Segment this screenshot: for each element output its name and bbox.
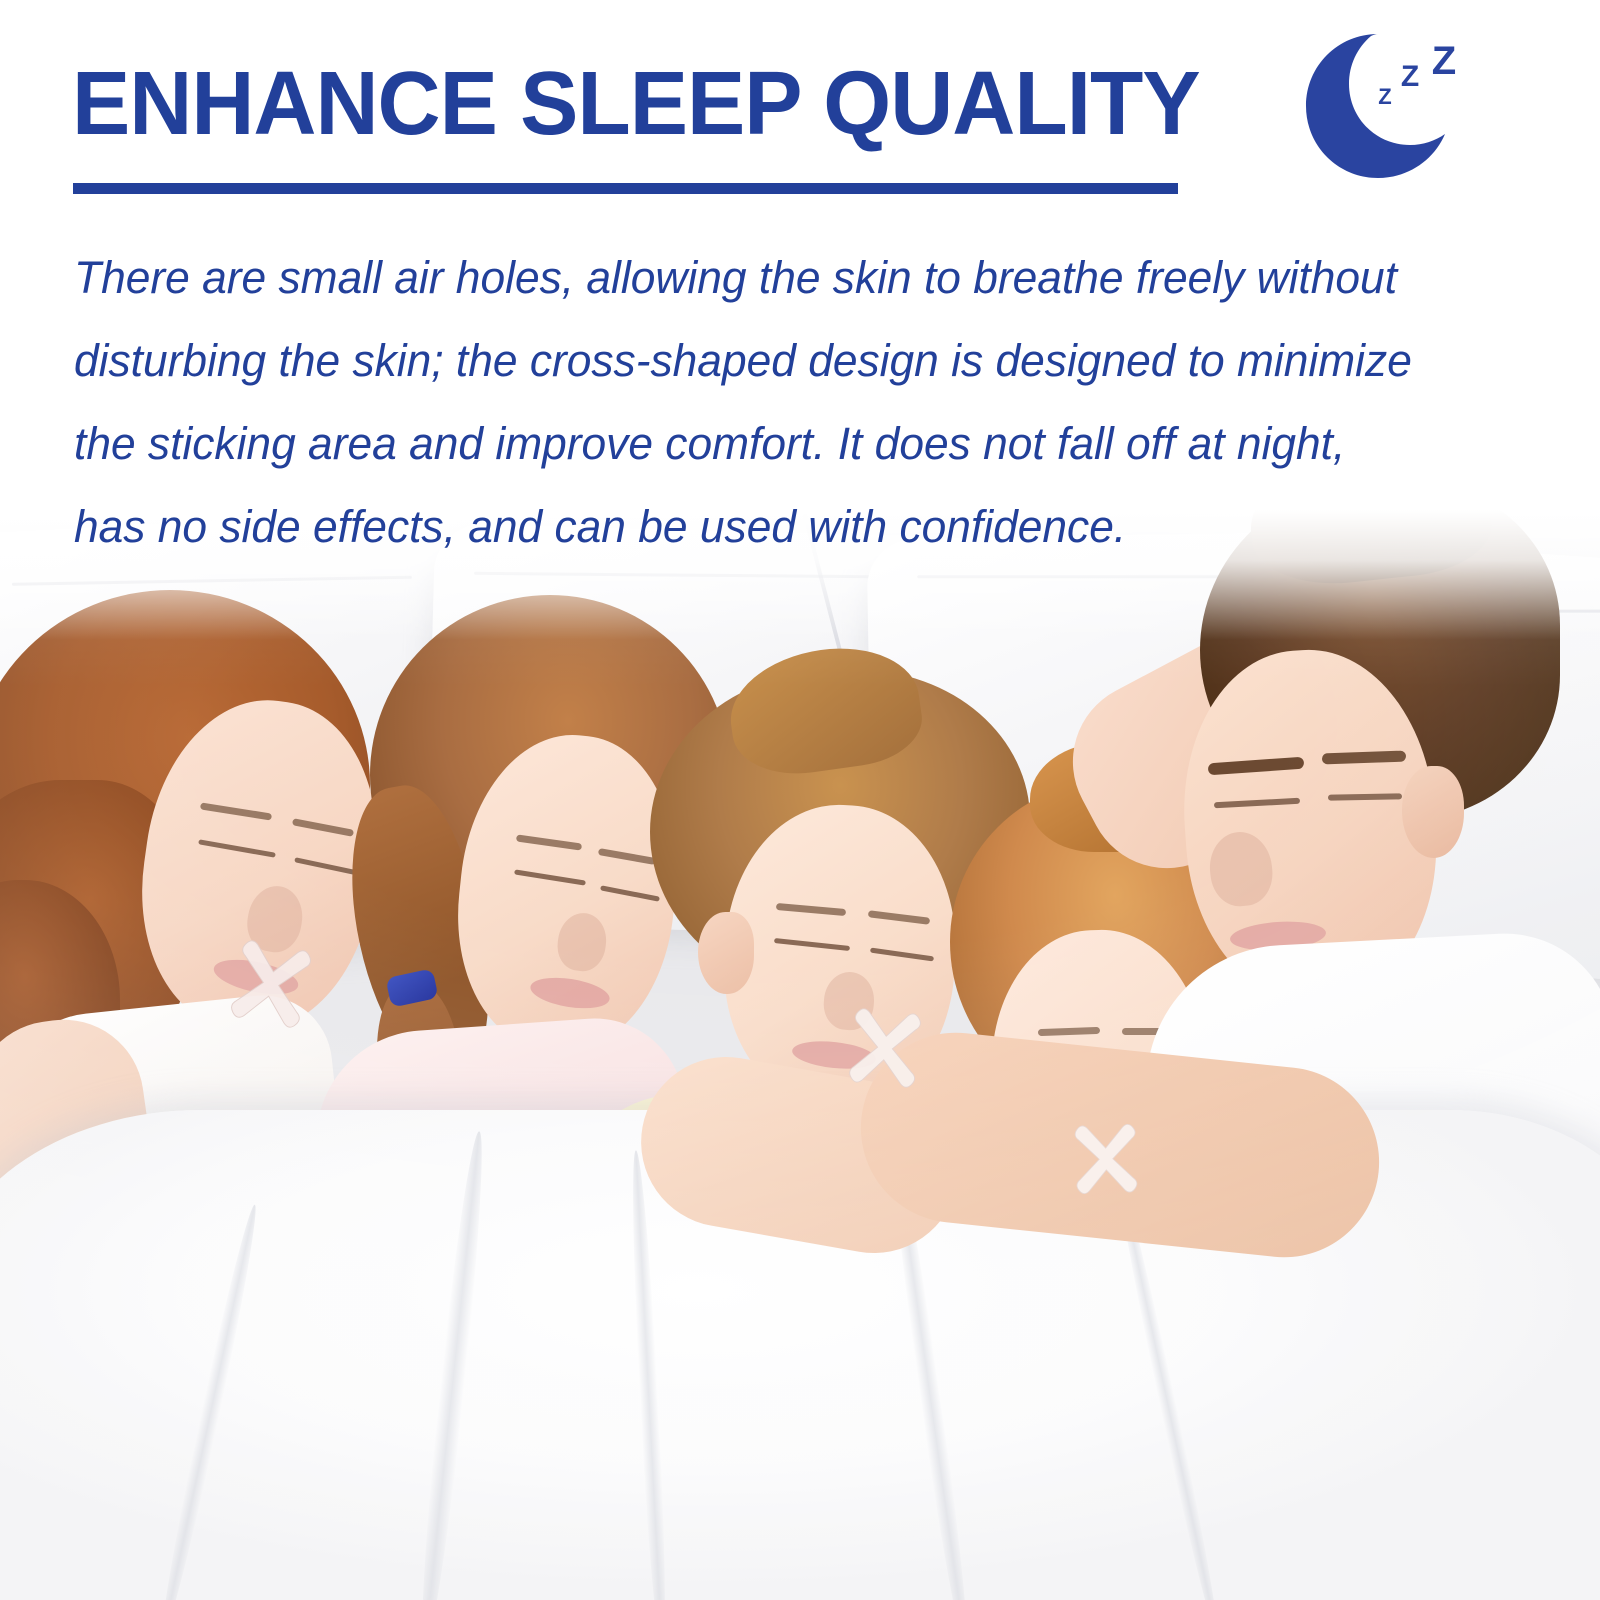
svg-text:Z: Z (1432, 39, 1456, 83)
mouth-tape-strip (844, 1002, 926, 1093)
body-line: There are small air holes, allowing the … (74, 236, 1453, 319)
header: ENHANCE SLEEP QUALITY There are small ai… (0, 0, 1600, 560)
page-title: ENHANCE SLEEP QUALITY (72, 58, 1200, 150)
body-line: the sticking area and improve comfort. I… (74, 402, 1453, 485)
body-line: disturbing the skin; the cross-shaped de… (74, 319, 1453, 402)
mouth-tape-strip (1071, 1119, 1142, 1199)
body-copy: There are small air holes, allowing the … (74, 236, 1474, 568)
svg-text:Z: Z (1378, 84, 1391, 109)
mouth-tape-strip (224, 933, 317, 1034)
ear (1402, 766, 1464, 858)
svg-text:Z: Z (1401, 60, 1419, 93)
body-line: has no side effects, and can be used wit… (74, 485, 1453, 568)
ear (698, 912, 754, 994)
family-sleeping-photo (0, 430, 1600, 1600)
title-divider (73, 183, 1178, 194)
closed-eye (1328, 793, 1402, 800)
crescent-moon-zzz-icon: Z Z Z (1292, 28, 1477, 183)
promo-page: ENHANCE SLEEP QUALITY There are small ai… (0, 0, 1600, 1600)
